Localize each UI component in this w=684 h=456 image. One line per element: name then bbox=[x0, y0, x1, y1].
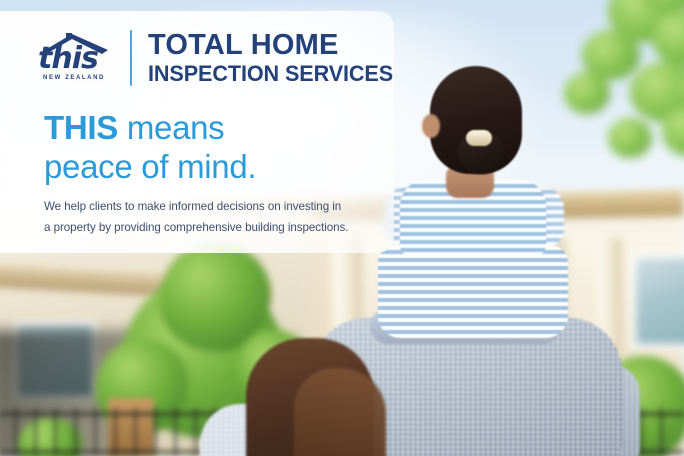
this-logo-mark: this NEW ZEALAND bbox=[36, 30, 112, 86]
body-copy-line2: a property by providing comprehensive bu… bbox=[44, 217, 374, 238]
hero-banner: this NEW ZEALAND TOTAL HOME INSPECTION S… bbox=[0, 0, 684, 456]
headline-line1: THIS means bbox=[44, 108, 256, 147]
logo-wordmark: this bbox=[38, 44, 110, 74]
logo-subtext: NEW ZEALAND bbox=[36, 75, 112, 81]
company-name-line2: INSPECTION SERVICES bbox=[148, 63, 393, 86]
girl-hair-clip bbox=[466, 130, 492, 146]
headline: THIS means peace of mind. bbox=[44, 108, 256, 186]
headline-rest: means bbox=[118, 109, 224, 146]
company-name: TOTAL HOME INSPECTION SERVICES bbox=[148, 31, 403, 86]
body-copy: We help clients to make informed decisio… bbox=[44, 196, 374, 238]
headline-line2: peace of mind. bbox=[44, 147, 256, 186]
body-copy-line1: We help clients to make informed decisio… bbox=[44, 196, 374, 217]
headline-strong: THIS bbox=[44, 109, 118, 146]
company-name-line1: TOTAL HOME bbox=[148, 31, 403, 60]
logo-divider bbox=[130, 30, 132, 86]
brand-lockup: this NEW ZEALAND TOTAL HOME INSPECTION S… bbox=[36, 30, 403, 86]
girl-skirt bbox=[378, 246, 568, 338]
girl-ear bbox=[422, 114, 440, 138]
woman-hair-highlight bbox=[294, 368, 386, 456]
